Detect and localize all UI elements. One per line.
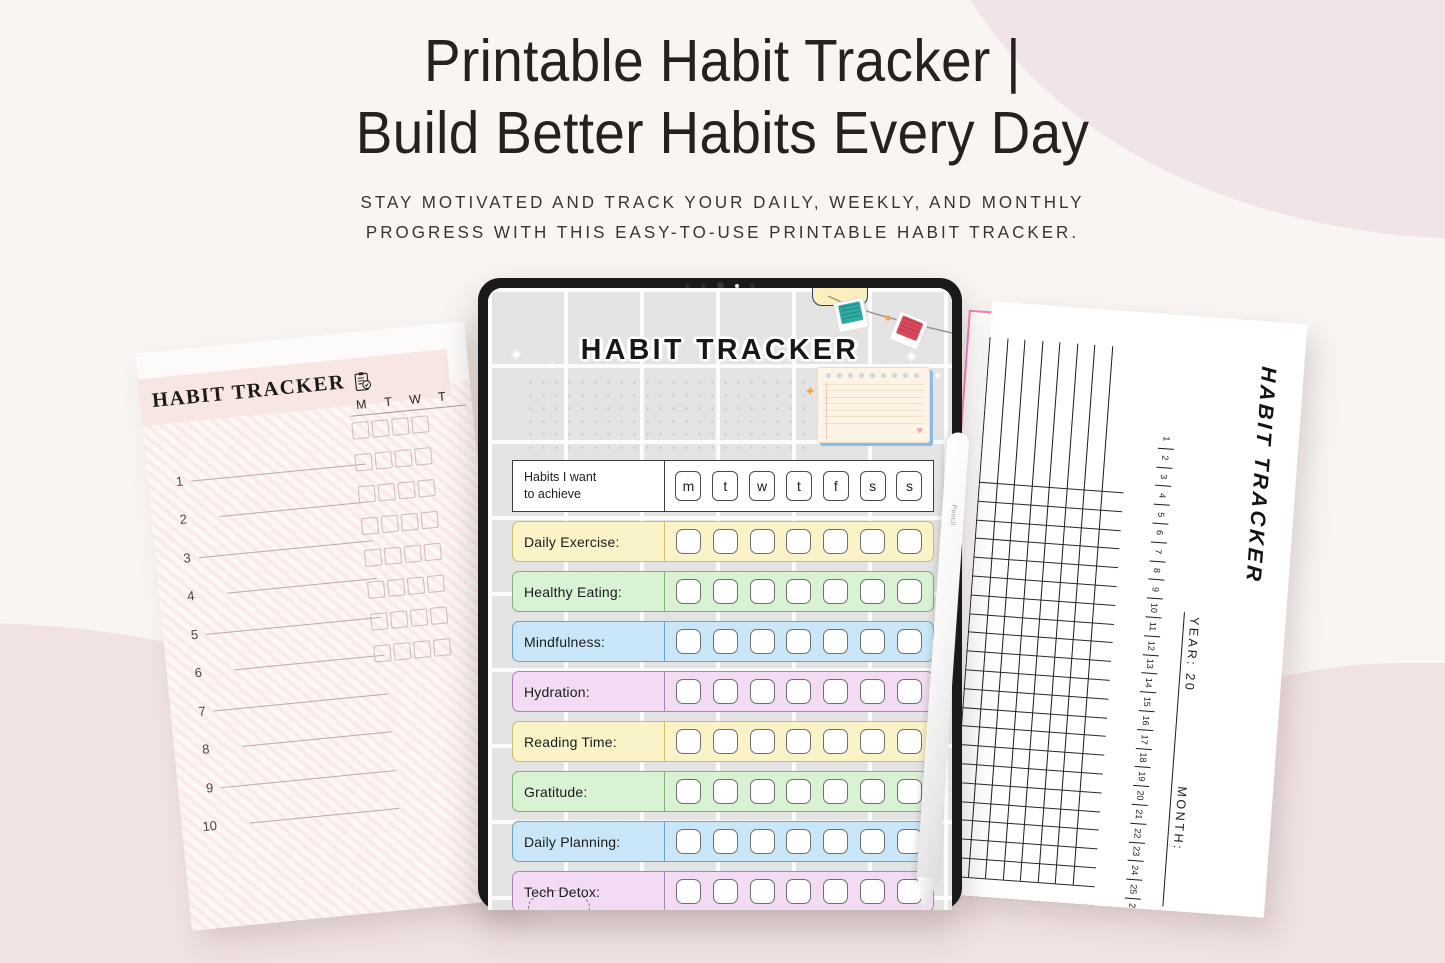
checkbox[interactable] (364, 548, 383, 567)
grid-horizontal-line (949, 702, 1107, 719)
grid-vertical-line (1002, 341, 1043, 880)
right-sheet-day-number: 5 (1152, 505, 1169, 525)
habit-checkbox[interactable] (860, 629, 885, 654)
row-number: 1 (165, 473, 183, 490)
right-sheet-day-number: 23 (1128, 842, 1145, 862)
habit-checkbox[interactable] (713, 729, 738, 754)
right-sheet-day-number: 24 (1126, 861, 1143, 881)
row-number: 5 (180, 626, 198, 643)
habit-checkbox[interactable] (676, 529, 701, 554)
page-title-line-1: Printable Habit Tracker | (51, 26, 1395, 98)
habit-checkbox[interactable] (750, 529, 775, 554)
habit-checkbox[interactable] (860, 729, 885, 754)
row-number: 7 (188, 703, 206, 720)
row-number: 3 (173, 550, 191, 567)
notepad-ruled-lines (818, 384, 929, 424)
habit-checkbox[interactable] (823, 779, 848, 804)
poster-header: Printable Habit Tracker | Build Better H… (0, 26, 1445, 247)
notepad-margin-line (826, 382, 827, 440)
row-number: 2 (169, 511, 187, 528)
checkbox[interactable] (427, 574, 446, 593)
habit-checkbox[interactable] (823, 829, 848, 854)
page-subtitle-line-1: Stay motivated and track your daily, wee… (22, 187, 1424, 217)
right-sheet-day-number: 12 (1143, 636, 1160, 656)
dot-grid-decoration (524, 376, 806, 450)
grid-horizontal-line (949, 589, 1116, 606)
habit-checkbox[interactable] (823, 729, 848, 754)
habit-label: Daily Planning: (513, 822, 665, 861)
habit-checkbox-group (665, 622, 933, 661)
row-number: 6 (184, 665, 202, 682)
habit-checkbox[interactable] (713, 629, 738, 654)
camera-indicator (735, 284, 739, 288)
habit-checkbox[interactable] (713, 779, 738, 804)
right-sheet-day-number: 19 (1133, 767, 1150, 787)
day-label-chip: f (823, 471, 849, 501)
grid-vertical-line (1037, 344, 1078, 883)
right-sheet-day-number: 6 (1151, 524, 1168, 544)
checkbox[interactable] (410, 608, 429, 627)
right-sheet-day-number: 2 (1156, 449, 1173, 469)
habit-label: Healthy Eating: (513, 572, 665, 611)
checkbox[interactable] (384, 547, 403, 566)
right-sheet-title: HABIT TRACKER (1240, 366, 1280, 585)
grid-vertical-line (1020, 342, 1061, 881)
habit-checkbox[interactable] (786, 529, 811, 554)
grid-horizontal-line (949, 739, 1105, 756)
grid-horizontal-line (949, 570, 1117, 587)
page-title-line-2: Build Better Habits Every Day (51, 98, 1395, 170)
habit-checkbox[interactable] (713, 579, 738, 604)
habit-checkbox[interactable] (860, 579, 885, 604)
habit-checkbox[interactable] (713, 529, 738, 554)
right-sheet-year-label: YEAR: 20 (1182, 616, 1202, 693)
grid-horizontal-line (949, 608, 1114, 625)
notepad-spiral-holes (818, 368, 929, 378)
habit-checkbox[interactable] (786, 629, 811, 654)
table-header-label: Habits I want to achieve (513, 461, 665, 511)
tablet-device: ✦ ✦ ✦ ✦ ✦ ✦ (478, 278, 962, 910)
pencil-brand-label: Pencil (949, 504, 957, 526)
habit-checkbox-group (665, 522, 933, 561)
right-sheet-day-number: 9 (1147, 580, 1164, 600)
checkbox[interactable] (404, 545, 423, 564)
left-sheet-checkbox-row (368, 602, 489, 631)
checkbox[interactable] (414, 447, 433, 466)
poster-canvas: Printable Habit Tracker | Build Better H… (0, 0, 1445, 963)
right-sheet-day-number: 3 (1155, 467, 1172, 487)
habit-checkbox[interactable] (750, 779, 775, 804)
row-number: 8 (192, 741, 210, 758)
habit-checkbox-group (665, 772, 933, 811)
habit-checkbox[interactable] (897, 529, 922, 554)
left-sheet-checkbox-row (362, 539, 483, 568)
habit-checkbox-group (665, 722, 933, 761)
grid-vertical-line (985, 340, 1026, 879)
checkbox[interactable] (351, 421, 370, 440)
left-sheet-checkbox-row (356, 475, 477, 504)
habit-checkbox[interactable] (713, 829, 738, 854)
right-sheet-day-number: 7 (1150, 542, 1167, 562)
habit-checkbox[interactable] (676, 779, 701, 804)
left-sheet-day-header: T (376, 394, 401, 410)
habit-row: Mindfulness: (512, 621, 934, 662)
checkbox[interactable] (397, 481, 416, 500)
left-sheet-checkbox-row (365, 570, 486, 599)
habit-checkbox[interactable] (750, 829, 775, 854)
checkbox[interactable] (358, 485, 377, 504)
polaroid-bunting-stickers (826, 292, 952, 354)
checkbox[interactable] (387, 578, 406, 597)
habit-checkbox[interactable] (676, 879, 701, 904)
right-sheet-day-number: 16 (1137, 711, 1154, 731)
grid-horizontal-line (949, 720, 1106, 737)
habit-checkbox-group (665, 872, 933, 910)
habit-tracker-table: Habits I want to achieve mtwtfss Daily E… (512, 460, 934, 910)
habit-row: Hydration: (512, 671, 934, 712)
tablet-screen[interactable]: ✦ ✦ ✦ ✦ ✦ ✦ (488, 288, 952, 910)
habit-row: Daily Planning: (512, 821, 934, 862)
page-subtitle-line-2: progress with this easy-to-use printable… (22, 217, 1424, 247)
habit-checkbox[interactable] (897, 679, 922, 704)
left-sheet-checkbox-row (371, 634, 492, 663)
clipboard-check-icon (353, 370, 372, 392)
right-sheet-day-number: 4 (1154, 486, 1171, 506)
habit-checkbox[interactable] (786, 579, 811, 604)
checkbox[interactable] (407, 576, 426, 595)
right-sheet-month-label: MONTH: (1170, 786, 1189, 852)
left-sheet-checkbox-row (352, 443, 473, 472)
habit-label: Mindfulness: (513, 622, 665, 661)
day-label-chip: s (860, 471, 886, 501)
left-sheet-day-header: W (403, 391, 428, 407)
habit-checkbox[interactable] (676, 579, 701, 604)
habit-checkbox[interactable] (750, 579, 775, 604)
orange-sparkle-icon: ✦ (804, 384, 816, 398)
habit-checkbox[interactable] (786, 829, 811, 854)
checkbox[interactable] (374, 451, 393, 470)
habit-checkbox[interactable] (676, 829, 701, 854)
habit-checkbox[interactable] (713, 679, 738, 704)
left-sheet-title: HABIT TRACKER (151, 371, 346, 413)
left-sheet-checkbox-row (349, 411, 470, 440)
habit-checkbox[interactable] (897, 629, 922, 654)
habit-checkbox-group (665, 572, 933, 611)
habit-checkbox[interactable] (897, 779, 922, 804)
habit-checkbox[interactable] (786, 729, 811, 754)
checkbox[interactable] (390, 610, 409, 629)
grid-vertical-line (1072, 346, 1113, 885)
header-label-line-1: Habits I want (524, 469, 664, 486)
left-sheet-checkbox-row (359, 507, 480, 536)
right-sheet-day-number: 15 (1139, 692, 1156, 712)
habit-checkbox[interactable] (860, 529, 885, 554)
right-sheet-day-number: 10 (1145, 599, 1162, 619)
checkbox[interactable] (361, 517, 380, 536)
right-sheet-day-number: 22 (1129, 823, 1146, 843)
habit-checkbox[interactable] (713, 879, 738, 904)
checkbox[interactable] (370, 612, 389, 631)
checkbox[interactable] (373, 644, 392, 663)
habit-label: Gratitude: (513, 772, 665, 811)
habit-checkbox[interactable] (823, 529, 848, 554)
sparkle-icon: ✦ (934, 372, 942, 382)
right-sheet-day-number: 20 (1132, 786, 1149, 806)
right-sheet-day-number: 17 (1136, 730, 1153, 750)
habit-checkbox[interactable] (897, 879, 922, 904)
right-sheet-day-number: 8 (1148, 561, 1165, 581)
habit-checkbox-group (665, 672, 933, 711)
checkbox[interactable] (367, 580, 386, 599)
day-label-chip: t (712, 471, 738, 501)
right-printable-sheet: HABIT TRACKER YEAR: 20 MONTH: 1234567891… (949, 301, 1308, 918)
right-sheet-day-number: 25 (1125, 880, 1142, 900)
habit-rows-container: Daily Exercise:Healthy Eating:Mindfulnes… (512, 521, 934, 910)
habit-checkbox[interactable] (823, 679, 848, 704)
habit-checkbox[interactable] (750, 729, 775, 754)
habit-checkbox[interactable] (676, 629, 701, 654)
row-number: 10 (199, 818, 217, 835)
right-sheet-day-number: 11 (1144, 617, 1161, 637)
left-sheet-checkbox-rows (349, 411, 492, 663)
row-number: 4 (177, 588, 195, 605)
habit-checkbox[interactable] (860, 879, 885, 904)
day-label-chip: t (786, 471, 812, 501)
habit-checkbox[interactable] (897, 729, 922, 754)
header-label-line-2: to achieve (524, 486, 664, 503)
habit-checkbox[interactable] (823, 879, 848, 904)
right-sheet-day-number: 18 (1134, 748, 1151, 768)
right-sheet-day-number: 21 (1130, 805, 1147, 825)
left-sheet-day-header: T (430, 389, 455, 405)
day-label-chip: s (896, 471, 922, 501)
checkbox[interactable] (393, 642, 412, 661)
checkbox[interactable] (413, 640, 432, 659)
checkbox[interactable] (371, 419, 390, 438)
checkbox[interactable] (423, 543, 442, 562)
grid-horizontal-line (949, 645, 1112, 662)
checkbox[interactable] (377, 483, 396, 502)
left-sheet-day-header: M (349, 397, 374, 413)
checkbox[interactable] (394, 449, 413, 468)
right-sheet-day-number: 1 (1158, 430, 1175, 450)
right-sheet-day-number: 13 (1141, 655, 1158, 675)
habit-checkbox[interactable] (676, 679, 701, 704)
habit-checkbox[interactable] (750, 679, 775, 704)
habit-checkbox-group (665, 822, 933, 861)
grid-vertical-line (1055, 345, 1096, 884)
day-label-chip: m (675, 471, 701, 501)
habit-checkbox[interactable] (750, 879, 775, 904)
left-printable-sheet: HABIT TRACKER 12345678910 MTWT (135, 321, 520, 930)
row-number: 9 (196, 780, 214, 797)
grid-horizontal-line (949, 683, 1109, 700)
grid-horizontal-line (949, 627, 1113, 644)
habit-label: Hydration: (513, 672, 665, 711)
habit-checkbox[interactable] (786, 679, 811, 704)
habit-checkbox[interactable] (750, 629, 775, 654)
habit-row: Reading Time: (512, 721, 934, 762)
day-label-chip: w (749, 471, 775, 501)
notepad-sticker[interactable]: ♥ (817, 367, 930, 443)
habit-label: Reading Time: (513, 722, 665, 761)
checkbox[interactable] (430, 606, 449, 625)
right-sheet-meta-divider (1162, 612, 1185, 906)
checkbox[interactable] (381, 515, 400, 534)
habit-row: Gratitude: (512, 771, 934, 812)
checkbox[interactable] (420, 511, 439, 530)
habit-checkbox[interactable] (786, 779, 811, 804)
checkbox[interactable] (433, 638, 452, 657)
table-header-row: Habits I want to achieve mtwtfss (512, 460, 934, 512)
habit-checkbox[interactable] (823, 629, 848, 654)
habit-checkbox[interactable] (823, 579, 848, 604)
right-sheet-day-number: 14 (1140, 674, 1157, 694)
heart-icon: ♥ (916, 426, 923, 437)
day-label-row: mtwtfss (665, 461, 933, 511)
habit-checkbox[interactable] (897, 579, 922, 604)
grid-horizontal-line (949, 664, 1110, 681)
habit-checkbox[interactable] (676, 729, 701, 754)
habit-row: Healthy Eating: (512, 571, 934, 612)
checkbox[interactable] (417, 479, 436, 498)
checkbox[interactable] (391, 417, 410, 436)
habit-checkbox[interactable] (786, 879, 811, 904)
checkbox[interactable] (354, 453, 373, 472)
grid-horizontal-line (949, 758, 1103, 775)
habit-checkbox[interactable] (860, 679, 885, 704)
checkbox[interactable] (411, 415, 430, 434)
habit-checkbox[interactable] (860, 779, 885, 804)
habit-checkbox[interactable] (860, 829, 885, 854)
habit-label: Daily Exercise: (513, 522, 665, 561)
habit-row: Daily Exercise: (512, 521, 934, 562)
checkbox[interactable] (400, 513, 419, 532)
